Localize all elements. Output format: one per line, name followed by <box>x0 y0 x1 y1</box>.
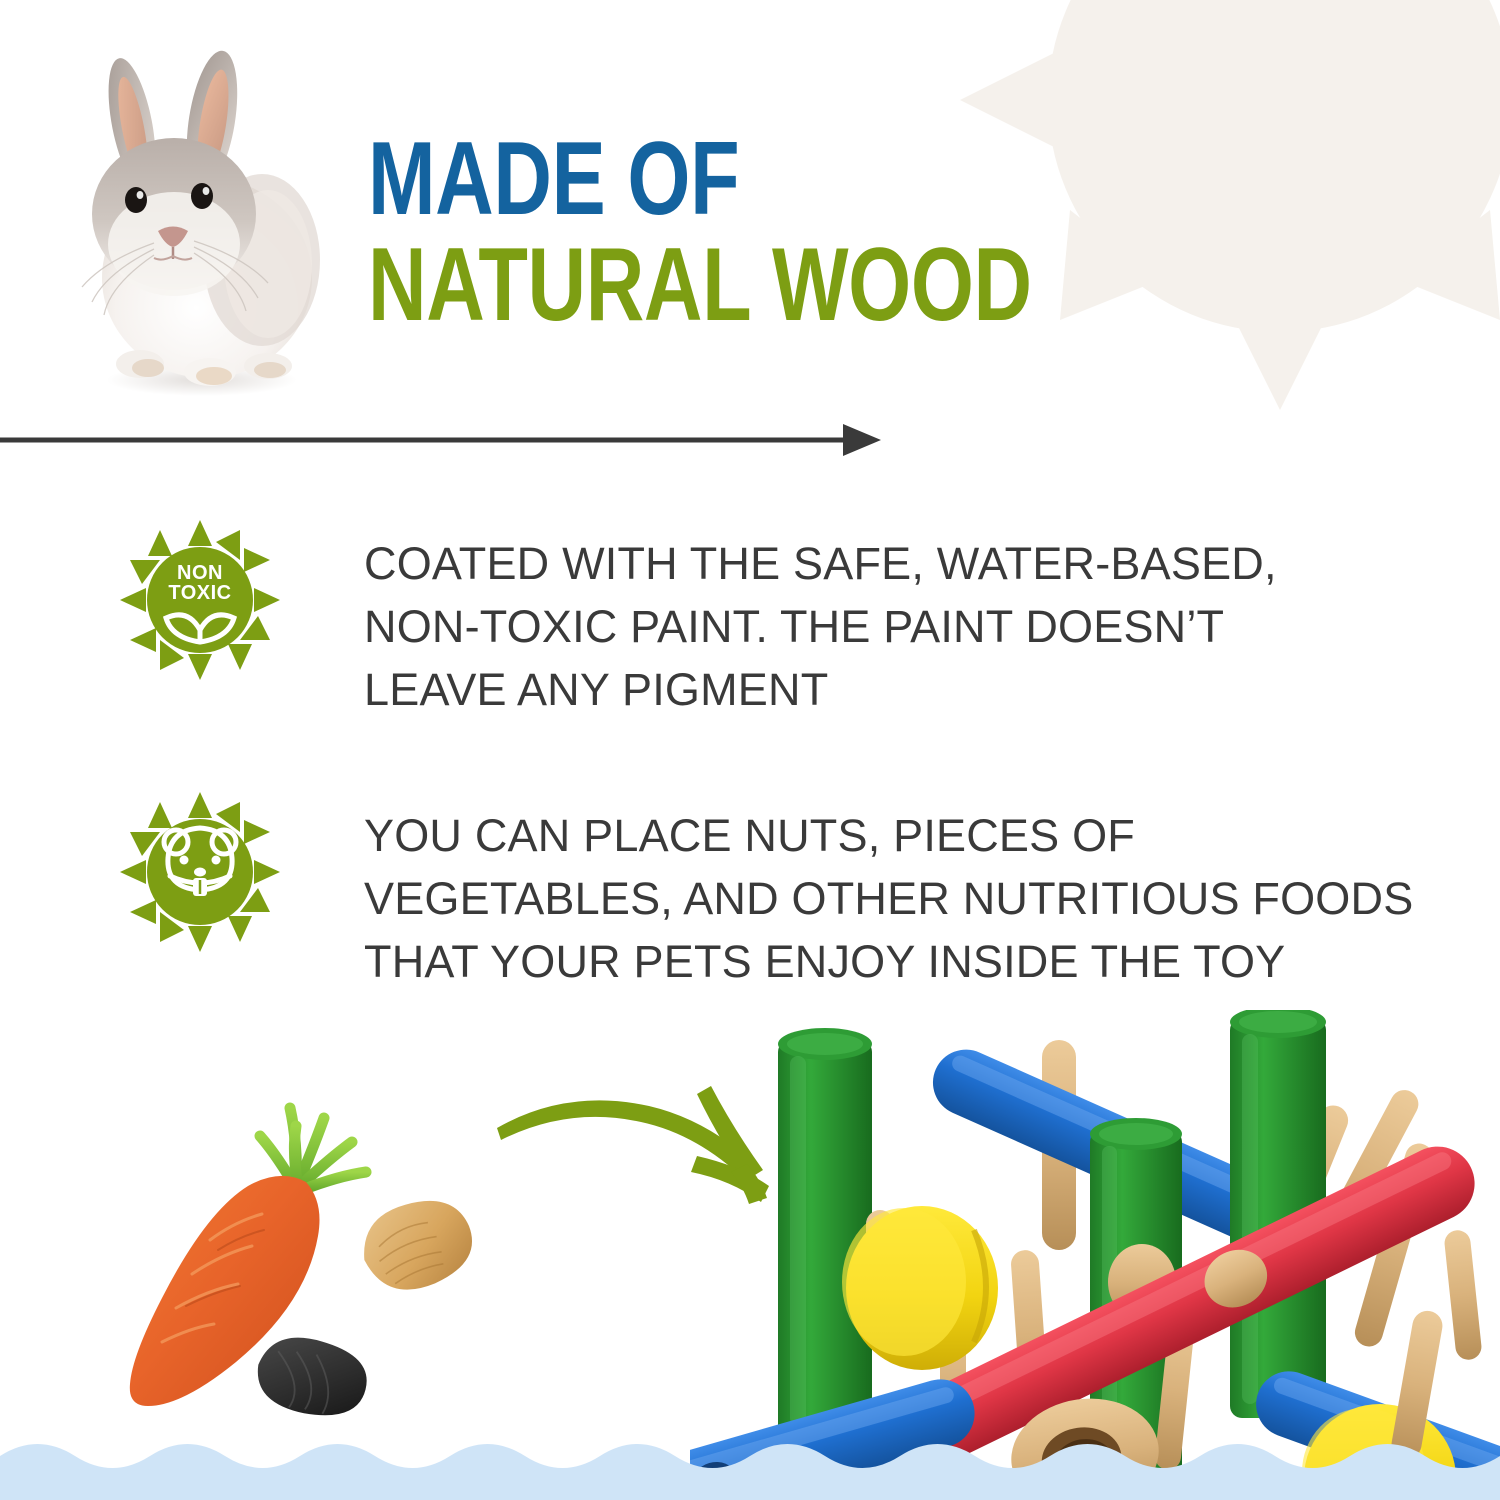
svg-text:TOXIC: TOXIC <box>168 582 231 604</box>
svg-text:NON: NON <box>177 562 223 584</box>
infographic-page: MADE OF NATURAL WOOD <box>0 0 1500 1500</box>
feature-row-treats: YOU CAN PLACE NUTS, PIECES OF VEGETABLES… <box>120 792 1413 993</box>
non-toxic-sun-badge-icon: NON TOXIC <box>120 520 280 680</box>
hamster-face-sun-badge-icon <box>120 792 280 952</box>
divider-arrow-icon <box>0 418 890 462</box>
feature-text-non-toxic: COATED WITH THE SAFE, WATER-BASED, NON-T… <box>364 532 1277 721</box>
wooden-toy-photo <box>690 1010 1500 1500</box>
headline: MADE OF NATURAL WOOD <box>368 126 1268 338</box>
headline-line-2: NATURAL WOOD <box>368 232 1070 338</box>
feature-row-non-toxic: NON TOXIC COATED WITH THE SAFE, WATER-BA… <box>120 520 1277 721</box>
food-items-photo <box>100 1090 530 1420</box>
rabbit-photo <box>62 28 334 400</box>
feature-text-treats: YOU CAN PLACE NUTS, PIECES OF VEGETABLES… <box>364 804 1413 993</box>
headline-line-1: MADE OF <box>368 126 1070 232</box>
